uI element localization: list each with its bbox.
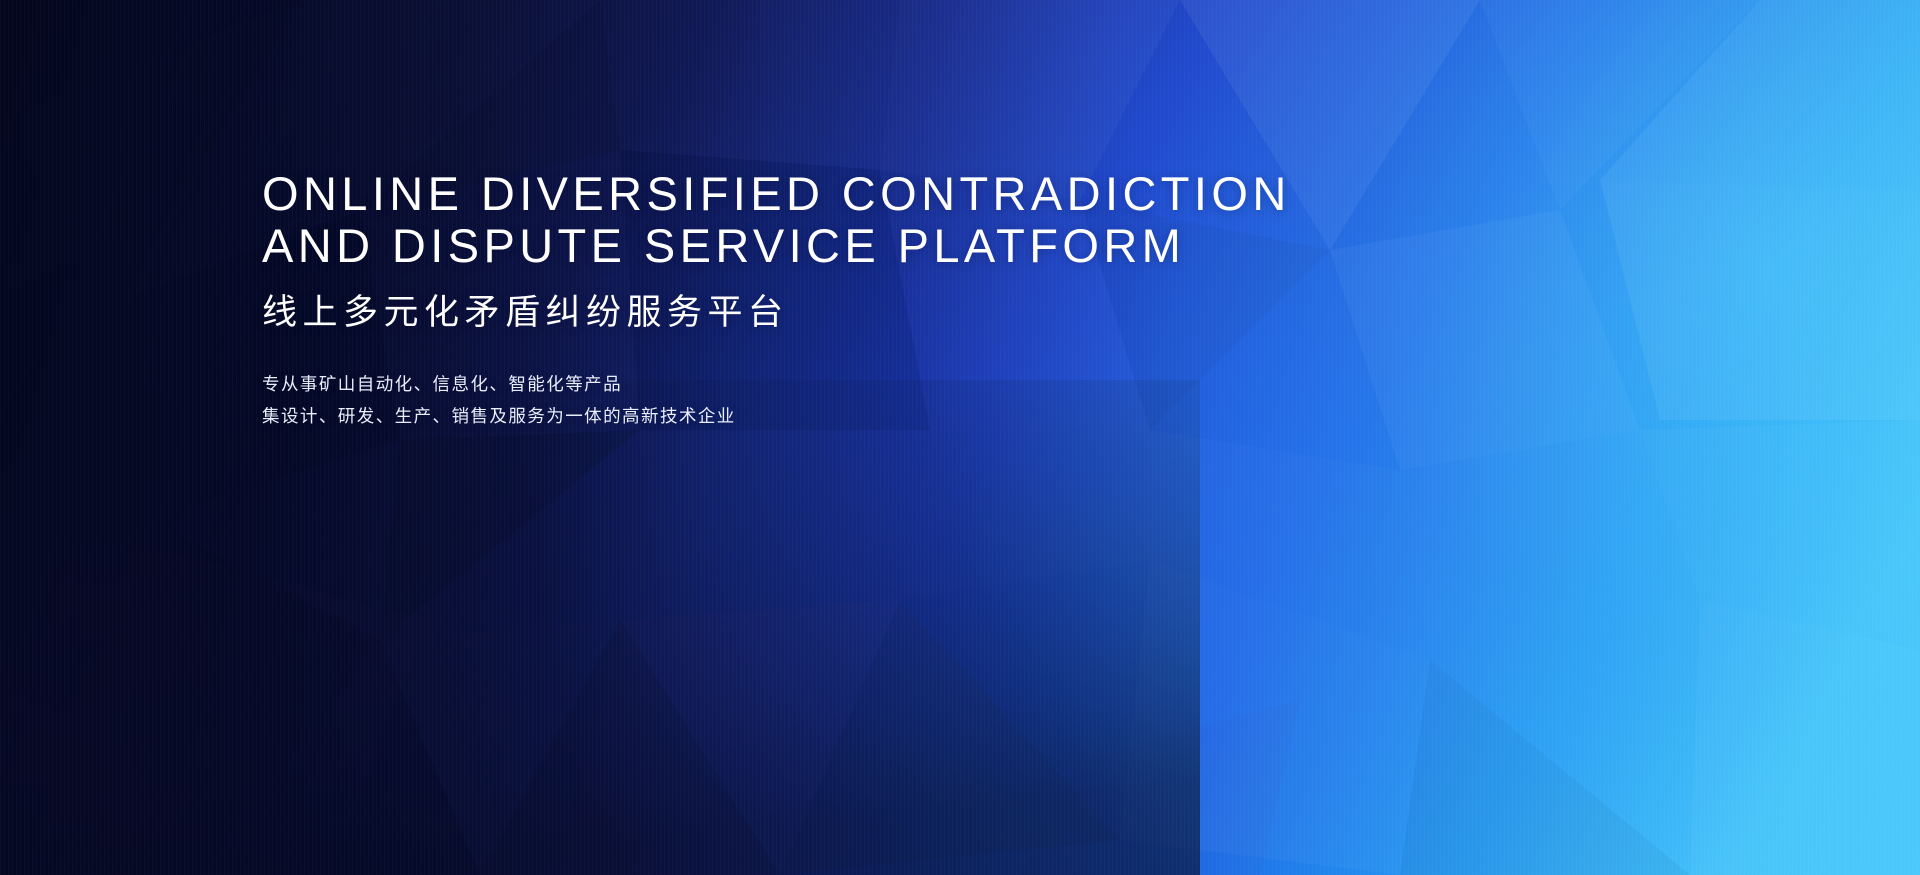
hero-subheadline: 线上多元化矛盾纠纷服务平台 — [262, 291, 1582, 335]
headline-line-1: ONLINE DIVERSIFIED CONTRADICTION — [262, 168, 1582, 220]
blurb-line-1: 专从事矿山自动化、信息化、智能化等产品 — [262, 368, 1582, 400]
blurb-line-2: 集设计、研发、生产、销售及服务为一体的高新技术企业 — [262, 400, 1582, 432]
hero-copy: ONLINE DIVERSIFIED CONTRADICTION AND DIS… — [262, 168, 1582, 432]
headline-line-2: AND DISPUTE SERVICE PLATFORM — [262, 220, 1582, 272]
polygon-background — [0, 0, 1920, 875]
hero-banner: ONLINE DIVERSIFIED CONTRADICTION AND DIS… — [0, 0, 1920, 875]
hero-blurb: 专从事矿山自动化、信息化、智能化等产品 集设计、研发、生产、销售及服务为一体的高… — [262, 368, 1582, 432]
hero-headline: ONLINE DIVERSIFIED CONTRADICTION AND DIS… — [262, 168, 1582, 272]
